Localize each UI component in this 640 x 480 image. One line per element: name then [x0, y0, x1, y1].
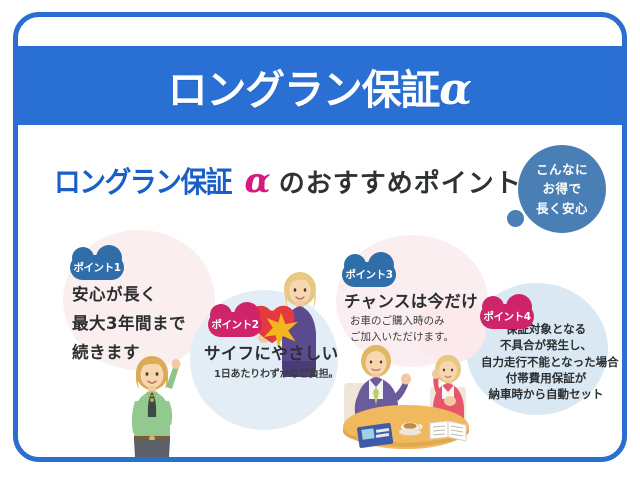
bubble-line-3: 長く安心 [536, 199, 588, 218]
point-1-line-1: 安心が長く [72, 281, 186, 310]
point-2-badge: ポイント2 [208, 312, 262, 337]
bubble-line-1: こんなに [536, 160, 588, 179]
speech-bubble: こんなに お得で 長く安心 [518, 145, 606, 233]
point-1-badge: ポイント1 [70, 255, 124, 280]
point-2-heading: サイフにやさしい [204, 340, 338, 364]
content-area: ロングラン保証 α のおすすめポイント こんなに お得で 長く安心 ポイント1 … [18, 125, 622, 457]
point-3-badge: ポイント3 [342, 262, 396, 287]
speech-bubble-dot [507, 210, 524, 227]
point-1-line-3: 続きます [72, 339, 186, 368]
point-3-subtext: お車のご購入時のみ ご加入いただけます。 [350, 314, 454, 346]
two-people-at-table-illustration [336, 335, 476, 457]
point-4-line-4: 付帯費用保証が [481, 370, 611, 386]
headline-alpha: α [245, 161, 271, 201]
point-2-sub-line-1: 1日あたりわずかなご負担。 [214, 365, 338, 380]
point-4-text: 保証対象となる 不具合が発生し、 自力走行不能となった場合 付帯費用保証が 納車… [481, 321, 611, 403]
headline-brand: ロングラン保証 [54, 159, 231, 201]
point-4-line-3: 自力走行不能となった場合 [481, 354, 611, 370]
point-3-sub-line-1: お車のご購入時のみ [350, 314, 454, 330]
page-headline: ロングラン保証 α のおすすめポイント [54, 159, 522, 201]
point-4-badge: ポイント4 [480, 304, 534, 329]
point-3-heading: チャンスは今だけ [344, 288, 478, 312]
title-banner: ロングラン保証α [16, 46, 622, 125]
point-3-sub-line-2: ご加入いただけます。 [350, 330, 454, 346]
point-4-line-5: 納車時から自動セット [481, 386, 611, 402]
poster-frame: ロングラン保証α ロングラン保証 α のおすすめポイント こんなに お得で 長く… [13, 12, 627, 462]
banner-title-alpha: α [439, 64, 471, 115]
point-4-line-2: 不具合が発生し、 [481, 337, 611, 353]
headline-rest: のおすすめポイント [279, 163, 522, 200]
banner-title-main: ロングラン保証 [167, 66, 439, 114]
point-1-line-2: 最大3年間まで [72, 310, 186, 339]
banner-title: ロングラン保証α [167, 56, 470, 116]
long-run-warranty-poster: ロングラン保証α ロングラン保証 α のおすすめポイント こんなに お得で 長く… [0, 0, 640, 480]
point-1-text: 安心が長く 最大3年間まで 続きます [72, 281, 186, 368]
bubble-line-2: お得で [542, 179, 581, 198]
point-2-subtext: 1日あたりわずかなご負担。 [214, 365, 338, 380]
